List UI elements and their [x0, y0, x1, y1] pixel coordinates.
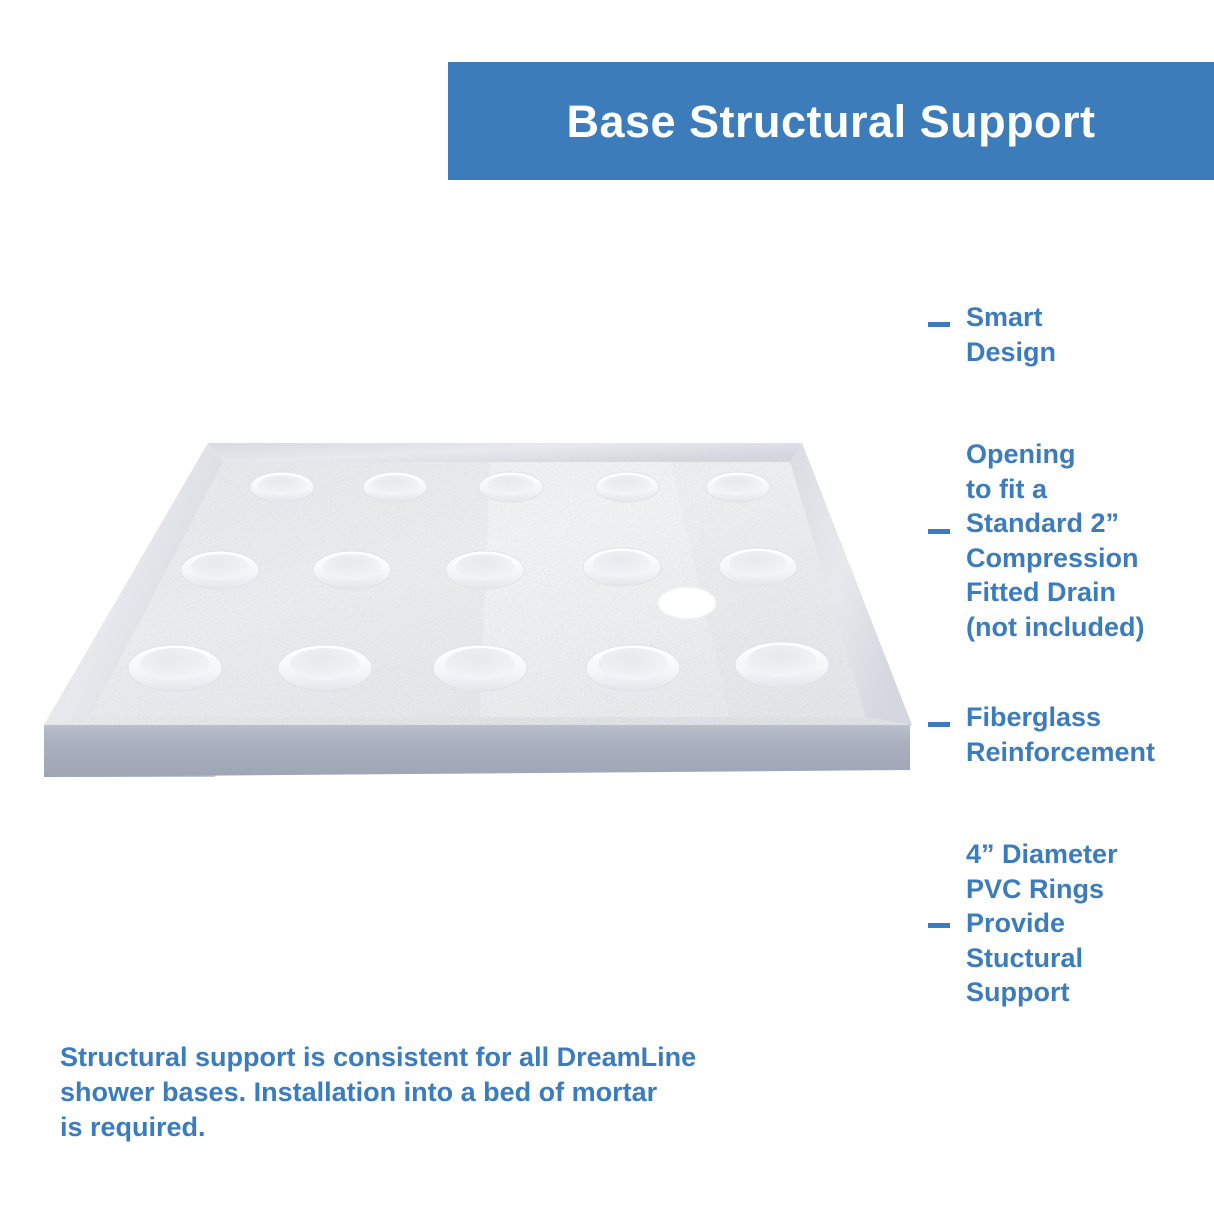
- pvc-ring: [250, 472, 314, 502]
- pvc-ring: [706, 472, 770, 502]
- pvc-ring: [181, 551, 259, 589]
- shower-base-illustration: [30, 425, 930, 795]
- pvc-ring: [735, 642, 829, 688]
- callout-smart-design-label: Smart Design: [966, 300, 1056, 369]
- pvc-ring: [719, 548, 797, 586]
- base-front-face: [44, 725, 910, 777]
- callout-pvc-rings-label: 4” Diameter PVC Rings Provide Stuctural …: [966, 837, 1118, 1010]
- base-rail-back: [208, 443, 802, 462]
- dash-marker-icon: [928, 722, 950, 727]
- pvc-ring: [595, 472, 659, 502]
- pvc-ring: [586, 645, 680, 691]
- pvc-ring: [128, 645, 222, 691]
- pvc-ring: [313, 551, 391, 589]
- dash-marker-icon: [928, 923, 950, 928]
- pvc-ring: [433, 645, 527, 691]
- pvc-ring: [479, 472, 543, 502]
- callout-pvc-rings: 4” Diameter PVC Rings Provide Stuctural …: [928, 837, 1118, 1010]
- callout-smart-design: Smart Design: [928, 300, 1056, 369]
- callout-fiberglass-reinforcement: Fiberglass Reinforcement: [928, 700, 1155, 769]
- pvc-ring: [278, 645, 372, 691]
- dash-marker-icon: [928, 529, 950, 534]
- callout-drain-opening: Opening to fit a Standard 2” Compression…: [928, 437, 1144, 644]
- page-title: Base Structural Support: [566, 99, 1095, 144]
- pvc-ring: [363, 472, 427, 502]
- footer-note: Structural support is consistent for all…: [60, 1040, 820, 1145]
- pvc-ring: [446, 551, 524, 589]
- callout-drain-opening-label: Opening to fit a Standard 2” Compression…: [966, 437, 1144, 644]
- dash-marker-icon: [928, 322, 950, 327]
- header-bar: Base Structural Support: [448, 62, 1214, 180]
- pvc-ring: [583, 548, 661, 586]
- callout-fiberglass-label: Fiberglass Reinforcement: [966, 700, 1155, 769]
- infographic-page: Base Structural Support: [0, 0, 1214, 1214]
